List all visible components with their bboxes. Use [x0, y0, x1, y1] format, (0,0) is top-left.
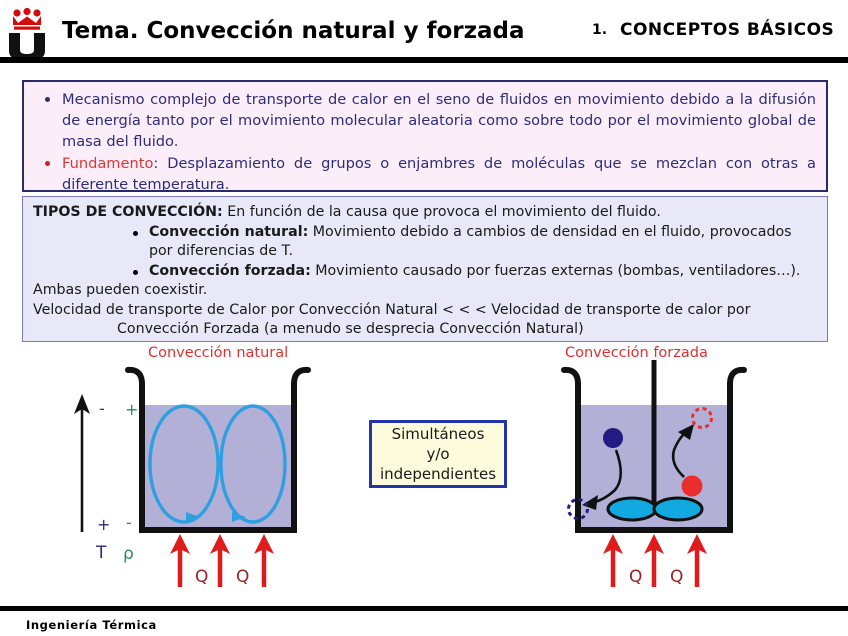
heat-arrow-right-1 — [603, 534, 623, 587]
heat-arrow-right-3 — [687, 534, 707, 587]
types-heading-label: TIPOS DE CONVECCIÓN: — [33, 204, 223, 220]
axis-label-density: ρ — [123, 544, 134, 564]
heat-arrow-left-2 — [210, 534, 230, 587]
footer-text: Ingeniería Térmica — [26, 618, 157, 632]
forced-convection-text: Movimiento causado por fuerzas externas … — [311, 263, 801, 279]
heat-label-right-2: Q — [670, 567, 683, 587]
stirrer-blade-right — [654, 498, 702, 520]
bullet-fundamento: Fundamento: Desplazamiento de grupos o e… — [36, 153, 816, 195]
heat-arrow-left-1 — [170, 534, 190, 587]
heat-label-left-1: Q — [195, 567, 208, 587]
heat-label-right-1: Q — [629, 567, 642, 587]
coexist-line: Ambas pueden coexistir. — [33, 281, 819, 301]
sign-top-rho: + — [125, 400, 138, 419]
stirrer-blade-left — [608, 498, 656, 520]
forced-convection-item: Convección forzada: Movimiento causado p… — [133, 262, 819, 282]
page-title: Tema. Convección natural y forzada — [62, 18, 525, 44]
header-divider — [0, 57, 848, 63]
heat-arrow-left-3 — [254, 534, 274, 587]
convection-diagram: Convección natural Convección forzada - … — [0, 342, 848, 604]
hot-particle-start — [682, 476, 703, 497]
section-title: CONCEPTOS BÁSICOS — [620, 20, 834, 40]
sign-bottom-T: + — [97, 515, 110, 534]
sign-top-T: - — [99, 399, 105, 418]
natural-convection-label: Convección natural: — [149, 224, 308, 240]
footer-divider — [0, 606, 848, 611]
bullet-mechanism-text: Mecanismo complejo de transporte de calo… — [62, 91, 816, 150]
natural-convection-text: Movimiento debido a cambios de densidad … — [308, 224, 791, 240]
center-box-line2: y/o — [426, 444, 449, 464]
heat-arrow-right-2 — [644, 534, 664, 587]
bullet-fundamento-text: : Desplazamiento de grupos o enjambres d… — [62, 155, 816, 193]
axis-label-temperature: T — [95, 543, 107, 563]
uclm-crown-u-logo — [4, 4, 52, 60]
natural-convection-text-cont: por diferencias de T. — [149, 242, 819, 262]
types-heading-rest: En función de la causa que provoca el mo… — [223, 204, 661, 220]
forced-convection-figure: Q Q — [520, 342, 820, 604]
natural-convection-figure: - + + - T ρ Q Q — [60, 342, 420, 604]
cold-particle-start — [603, 428, 623, 448]
sign-bottom-rho: - — [126, 513, 132, 532]
velocity-comparison-line-cont: Convección Forzada (a menudo se despreci… — [117, 320, 819, 340]
section-number: 1. — [592, 22, 607, 38]
center-box-line3: independientes — [380, 464, 496, 484]
bullet-fundamento-keyword: Fundamento — [62, 155, 153, 172]
types-heading-line: TIPOS DE CONVECCIÓN: En función de la ca… — [33, 203, 819, 223]
center-box-line1: Simultáneos — [392, 424, 485, 444]
definition-box: Mecanismo complejo de transporte de calo… — [22, 80, 828, 192]
definition-bullet-list: Mecanismo complejo de transporte de calo… — [24, 82, 826, 195]
natural-convection-item: Convección natural: Movimiento debido a … — [133, 223, 819, 243]
simultaneous-independent-box: Simultáneos y/o independientes — [369, 420, 507, 488]
types-of-convection-box: TIPOS DE CONVECCIÓN: En función de la ca… — [22, 196, 828, 342]
page-header: Tema. Convección natural y forzada 1. CO… — [0, 0, 848, 60]
forced-convection-label: Convección forzada: — [149, 263, 311, 279]
heat-label-left-2: Q — [236, 567, 249, 587]
velocity-comparison-line: Velocidad de transporte de Calor por Con… — [33, 301, 819, 321]
bullet-mechanism: Mecanismo complejo de transporte de calo… — [36, 89, 816, 152]
